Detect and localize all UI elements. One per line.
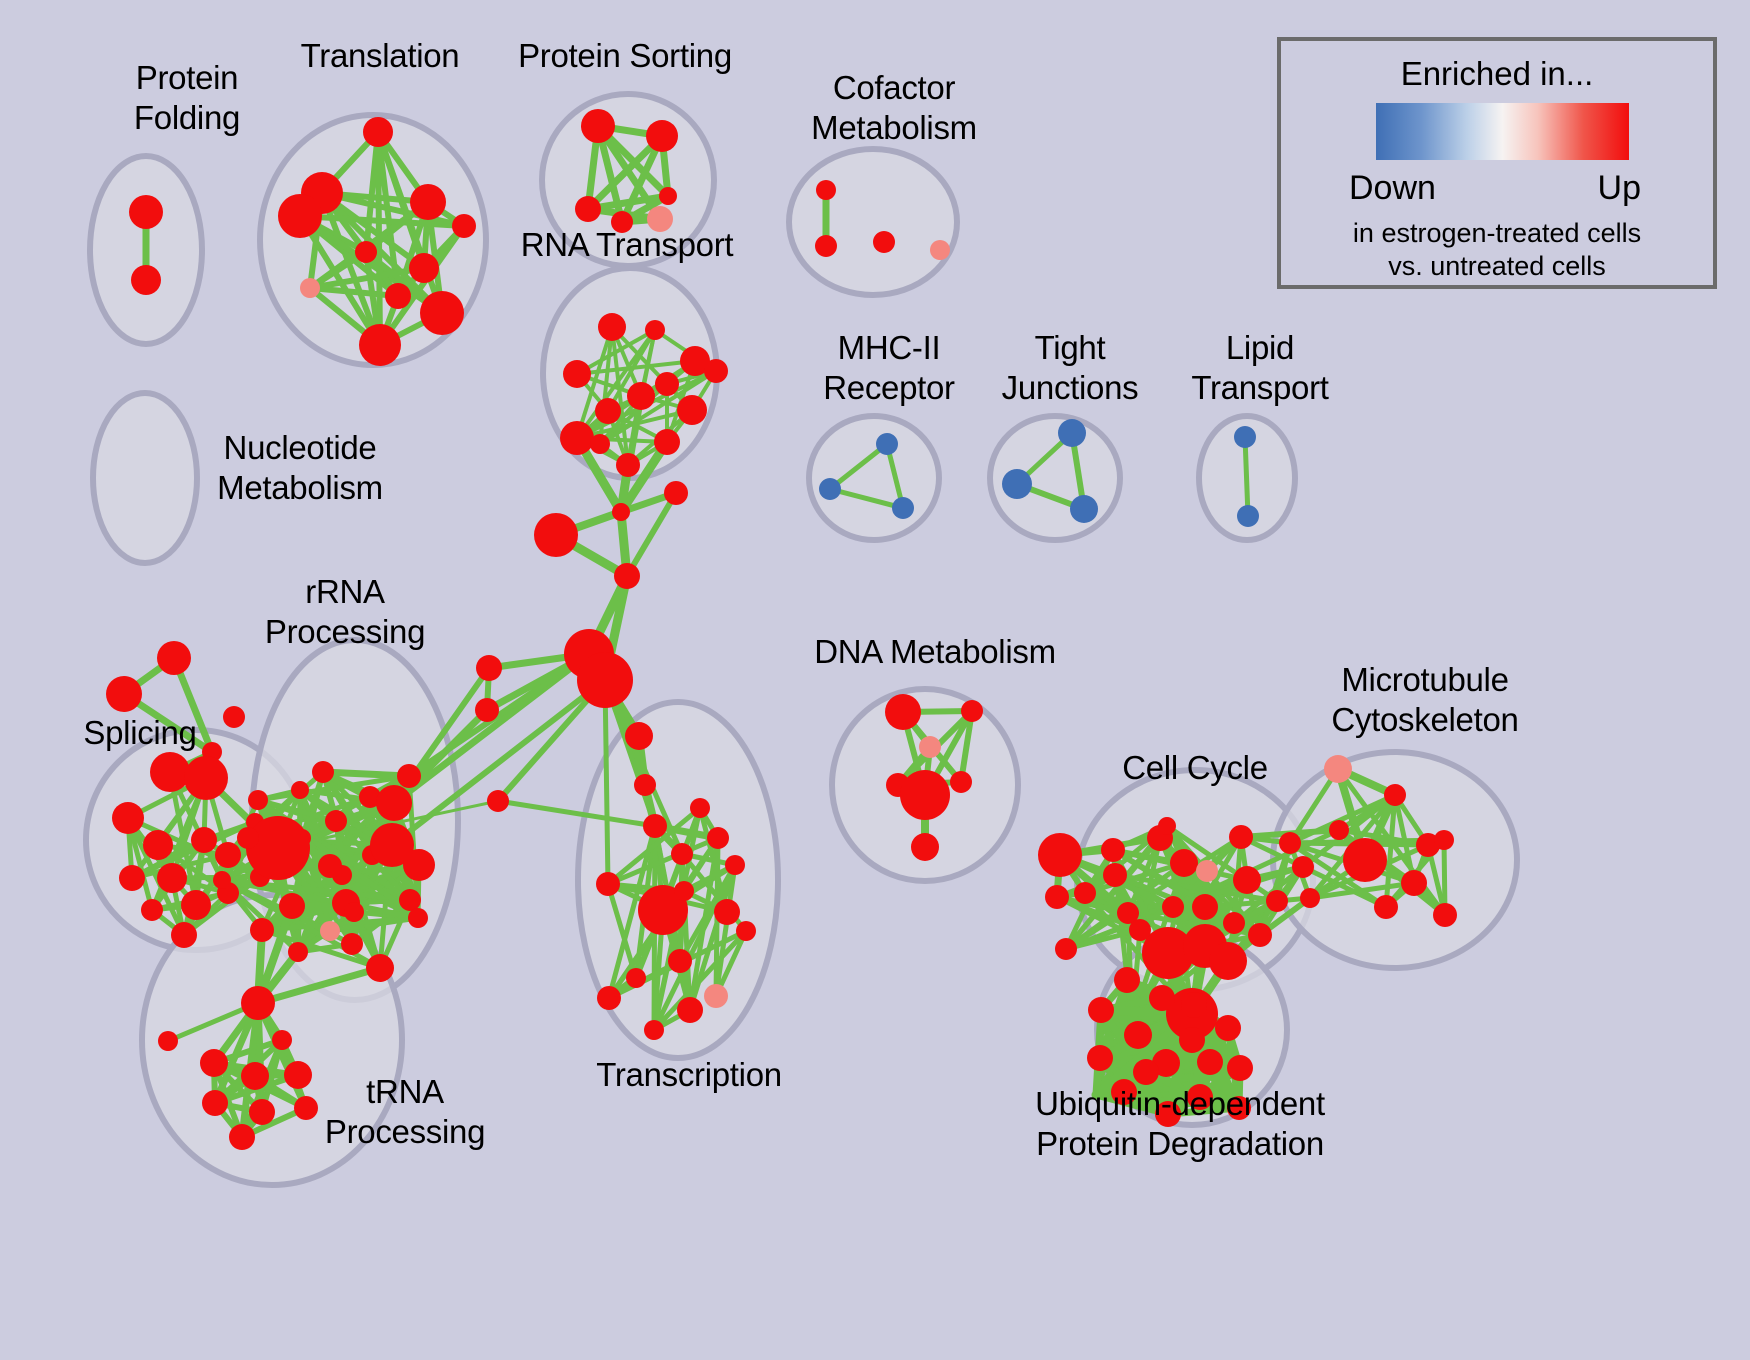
network-node <box>112 802 144 834</box>
network-node <box>704 359 728 383</box>
network-node <box>1162 896 1184 918</box>
network-node <box>690 798 710 818</box>
network-node <box>668 949 692 973</box>
network-node <box>376 785 412 821</box>
cluster-label-cell-cycle: Cell Cycle <box>1095 748 1295 788</box>
network-node <box>654 429 680 455</box>
network-node <box>677 395 707 425</box>
network-node <box>616 453 640 477</box>
cluster-label-nucleotide-metabolism: Nucleotide Metabolism <box>190 428 410 508</box>
cluster-label-dna-metabolism: DNA Metabolism <box>800 632 1070 672</box>
network-node <box>409 253 439 283</box>
network-node <box>900 770 950 820</box>
network-node <box>325 810 347 832</box>
network-node <box>399 889 421 911</box>
cluster-label-protein-sorting: Protein Sorting <box>485 36 765 76</box>
network-node <box>476 655 502 681</box>
network-edge <box>323 772 409 776</box>
network-node <box>1055 938 1077 960</box>
network-node <box>249 1099 275 1125</box>
network-node <box>1192 894 1218 920</box>
network-node <box>1223 912 1245 934</box>
network-node <box>291 781 309 799</box>
network-node <box>671 843 693 865</box>
network-node <box>1170 849 1198 877</box>
network-node <box>385 283 411 309</box>
network-node <box>1074 882 1096 904</box>
network-node <box>1088 997 1114 1023</box>
network-node <box>1292 856 1314 878</box>
network-node <box>1266 890 1288 912</box>
network-node <box>1002 469 1032 499</box>
network-node <box>1233 866 1261 894</box>
network-node <box>312 761 334 783</box>
cluster-label-protein-folding: Protein Folding <box>82 58 292 138</box>
network-node <box>1209 942 1247 980</box>
network-node <box>1070 495 1098 523</box>
network-node <box>534 513 578 557</box>
network-node <box>397 764 421 788</box>
network-node <box>1215 1015 1241 1041</box>
network-node <box>1324 755 1352 783</box>
enrichment-map-figure: Protein FoldingTranslationProtein Sortin… <box>0 0 1750 1360</box>
cluster-ellipse <box>93 393 197 563</box>
network-node <box>184 756 228 800</box>
network-node <box>150 752 190 792</box>
network-node <box>1248 923 1272 947</box>
cluster-label-translation: Translation <box>265 36 495 76</box>
cluster-ellipse <box>789 149 957 295</box>
network-node <box>1401 870 1427 896</box>
network-node <box>1329 820 1349 840</box>
network-node <box>614 563 640 589</box>
network-node <box>300 278 320 298</box>
network-node <box>223 706 245 728</box>
network-node <box>714 899 740 925</box>
network-node <box>1038 833 1082 877</box>
network-node <box>229 1124 255 1150</box>
network-node <box>119 865 145 891</box>
legend-high-label: Up <box>1598 169 1641 208</box>
network-node <box>191 827 217 853</box>
network-node <box>644 1020 664 1040</box>
network-node <box>876 433 898 455</box>
network-node <box>1058 419 1086 447</box>
cluster-label-cofactor-metabolism: Cofactor Metabolism <box>778 68 1010 148</box>
cluster-label-mhc-ii-receptor: MHC-II Receptor <box>786 328 992 408</box>
network-node <box>279 893 305 919</box>
network-node <box>873 231 895 253</box>
network-node <box>1181 992 1207 1018</box>
network-node <box>366 954 394 982</box>
network-node <box>246 816 310 880</box>
network-node <box>707 827 729 849</box>
network-node <box>627 382 655 410</box>
network-node <box>919 736 941 758</box>
network-node <box>655 372 679 396</box>
network-node <box>1237 505 1259 527</box>
network-node <box>1103 863 1127 887</box>
network-node <box>645 320 665 340</box>
network-node <box>241 986 275 1020</box>
network-edge <box>1245 437 1248 516</box>
network-edge <box>605 680 608 884</box>
network-node <box>677 997 703 1023</box>
cluster-label-rrna-processing: rRNA Processing <box>240 572 450 652</box>
network-node <box>1179 1027 1205 1053</box>
network-node <box>1279 832 1301 854</box>
network-node <box>1158 817 1176 835</box>
network-node <box>1149 985 1175 1011</box>
network-node <box>1234 426 1256 448</box>
network-node <box>403 849 435 881</box>
cluster-label-microtubule-cytoskeleton: Microtubule Cytoskeleton <box>1300 660 1550 740</box>
network-node <box>1434 830 1454 850</box>
network-node <box>911 833 939 861</box>
network-node <box>1374 895 1398 919</box>
network-node <box>560 421 594 455</box>
cluster-label-ubiquitin-degradation: Ubiquitin-dependent Protein Degradation <box>1000 1084 1360 1164</box>
network-node <box>288 942 308 962</box>
network-node <box>1101 838 1125 862</box>
network-node <box>930 240 950 260</box>
cluster-label-rna-transport: RNA Transport <box>493 225 761 265</box>
network-node <box>674 881 694 901</box>
cluster-label-trna-processing: tRNA Processing <box>300 1072 510 1152</box>
network-node <box>1343 838 1387 882</box>
network-node <box>704 984 728 1008</box>
network-node <box>143 830 173 860</box>
network-node <box>950 771 972 793</box>
network-node <box>410 184 446 220</box>
network-node <box>1133 1059 1159 1085</box>
network-node <box>595 398 621 424</box>
network-node <box>819 478 841 500</box>
network-node <box>590 434 610 454</box>
network-node <box>215 842 241 868</box>
network-node <box>250 918 274 942</box>
network-node <box>961 700 983 722</box>
network-node <box>475 698 499 722</box>
network-node <box>612 503 630 521</box>
network-node <box>420 291 464 335</box>
network-node <box>272 1030 292 1050</box>
legend-box: Enriched in... Down Up in estrogen-treat… <box>1277 37 1717 289</box>
network-node <box>659 187 677 205</box>
network-node <box>892 497 914 519</box>
network-node <box>598 313 626 341</box>
network-node <box>487 790 509 812</box>
network-node <box>171 922 197 948</box>
network-node <box>248 790 268 810</box>
network-node <box>157 641 191 675</box>
legend-low-label: Down <box>1349 169 1436 208</box>
network-node <box>1300 888 1320 908</box>
network-node <box>355 241 377 263</box>
network-node <box>200 1049 228 1077</box>
network-node <box>1384 784 1406 806</box>
network-node <box>202 1090 228 1116</box>
network-node <box>885 694 921 730</box>
network-node <box>320 921 340 941</box>
network-node <box>575 196 601 222</box>
network-node <box>1129 919 1151 941</box>
cluster-label-splicing: Splicing <box>55 713 225 753</box>
cluster-label-transcription: Transcription <box>564 1055 814 1095</box>
cluster-label-lipid-transport: Lipid Transport <box>1160 328 1360 408</box>
legend-subtitle: in estrogen-treated cells vs. untreated … <box>1281 217 1713 283</box>
network-node <box>106 676 142 712</box>
network-node <box>158 1031 178 1051</box>
network-node <box>664 481 688 505</box>
legend-color-bar <box>1376 103 1629 160</box>
network-node <box>626 968 646 988</box>
network-node <box>634 774 656 796</box>
network-node <box>359 324 401 366</box>
legend-title: Enriched in... <box>1281 55 1713 93</box>
network-node <box>318 854 342 878</box>
network-node <box>581 109 615 143</box>
network-node <box>1229 825 1253 849</box>
network-node <box>1197 1049 1223 1075</box>
network-node <box>344 902 364 922</box>
network-node <box>725 855 745 875</box>
network-node <box>1114 967 1140 993</box>
network-node <box>129 195 163 229</box>
network-node <box>1124 1021 1152 1049</box>
network-node <box>181 890 211 920</box>
network-node <box>736 921 756 941</box>
cluster-label-tight-junctions: Tight Junctions <box>972 328 1168 408</box>
network-node <box>1227 1055 1253 1081</box>
network-node <box>625 722 653 750</box>
network-node <box>815 235 837 257</box>
network-node <box>278 194 322 238</box>
network-node <box>1196 860 1218 882</box>
cluster-ellipse <box>809 416 939 540</box>
network-node <box>141 899 163 921</box>
network-node <box>596 872 620 896</box>
network-node <box>237 827 259 849</box>
network-node <box>241 1062 269 1090</box>
network-node <box>1045 885 1069 909</box>
network-node <box>408 908 428 928</box>
network-node <box>363 117 393 147</box>
network-node <box>597 986 621 1010</box>
network-node <box>816 180 836 200</box>
network-node <box>646 120 678 152</box>
network-node <box>563 360 591 388</box>
network-node <box>1433 903 1457 927</box>
network-node <box>213 871 231 889</box>
network-node <box>1087 1045 1113 1071</box>
network-node <box>131 265 161 295</box>
network-node <box>157 863 187 893</box>
network-node <box>341 933 363 955</box>
network-node <box>577 652 633 708</box>
network-node <box>643 814 667 838</box>
network-node <box>452 214 476 238</box>
